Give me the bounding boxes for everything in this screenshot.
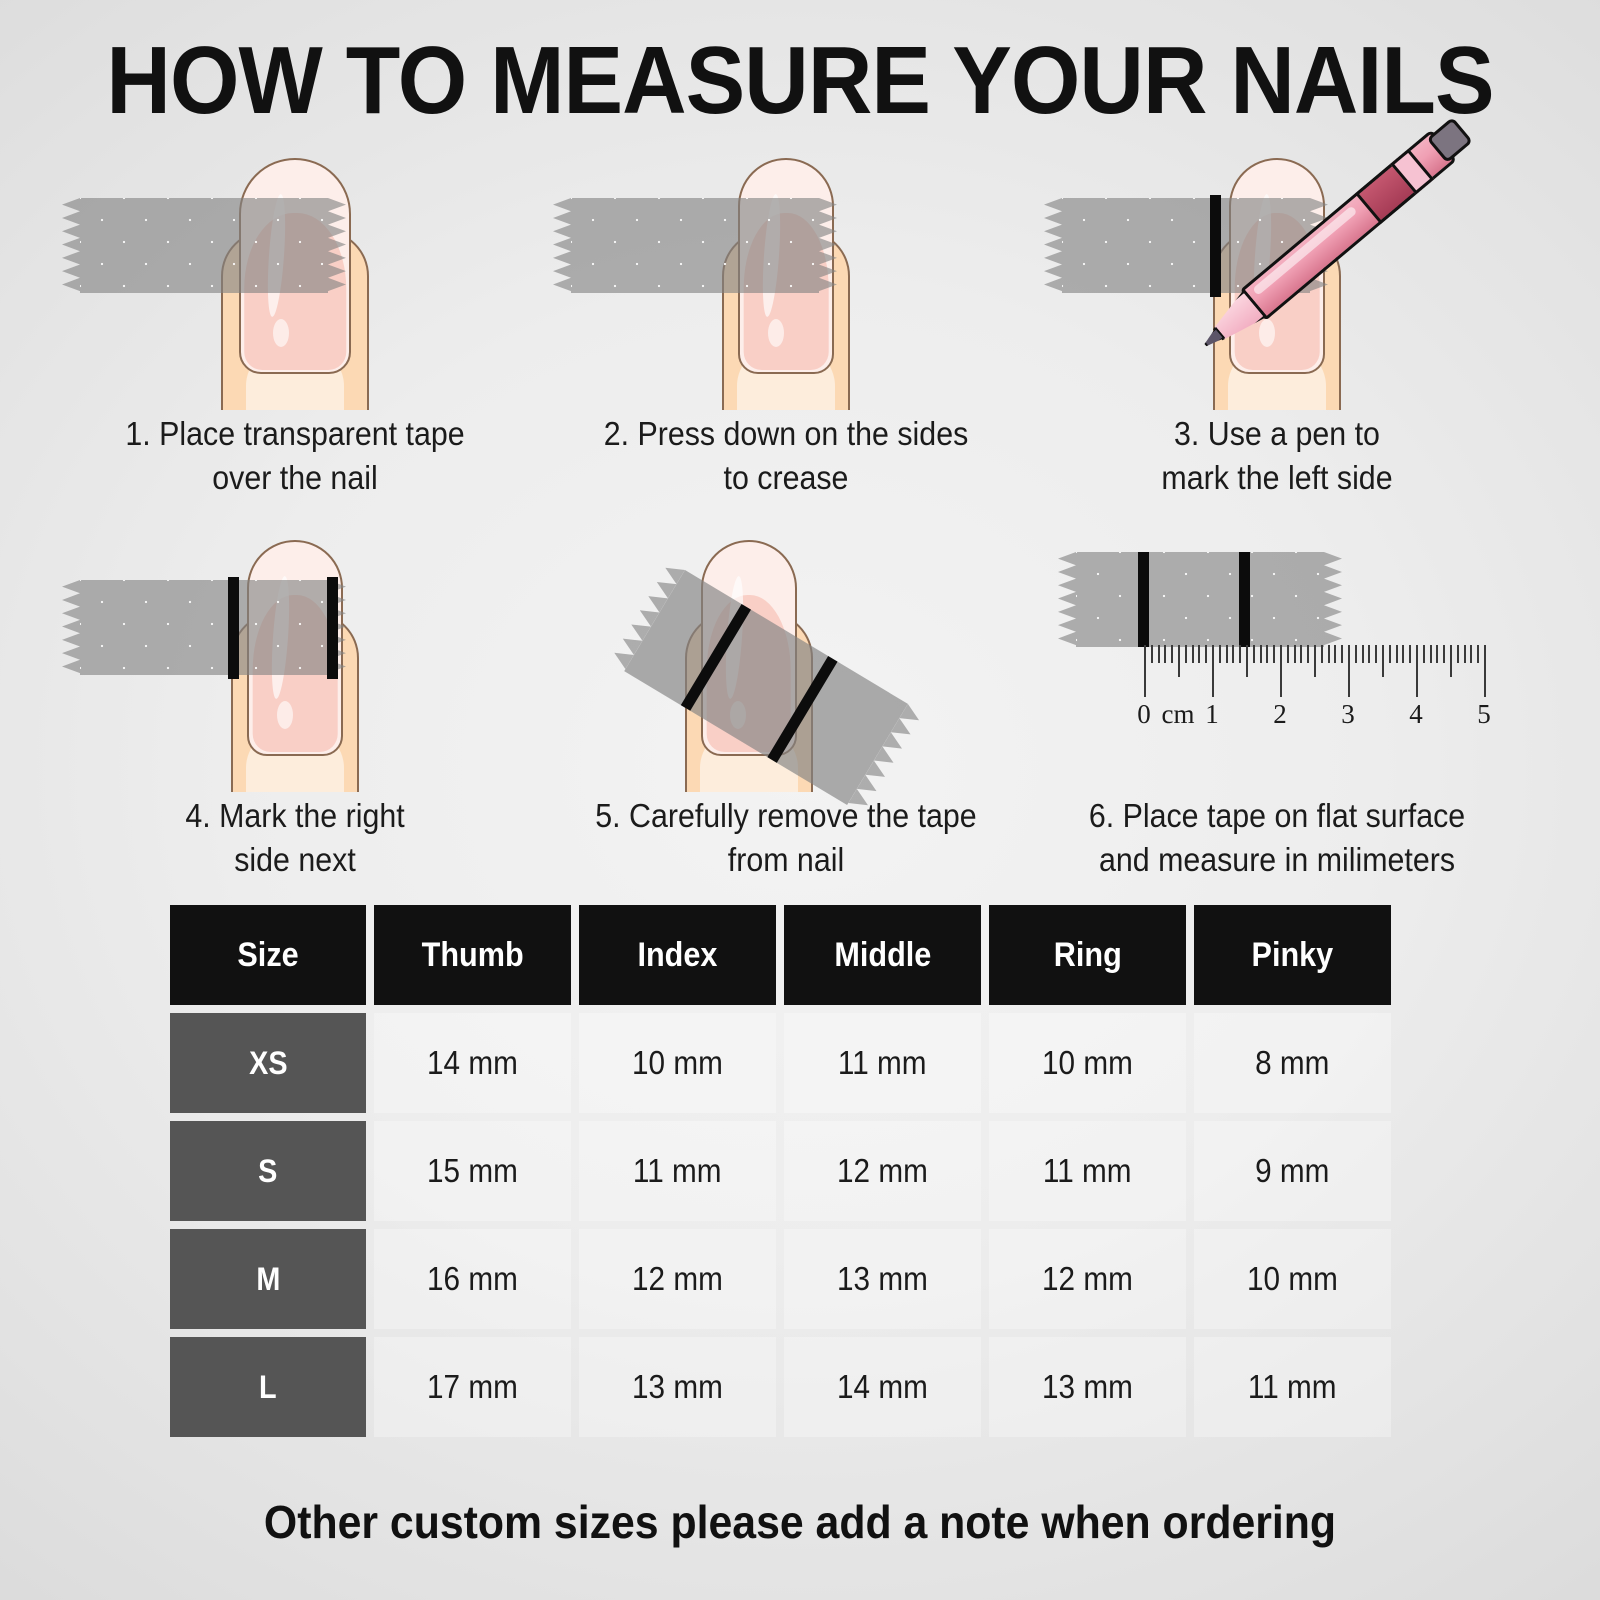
ruler-label-3: 3 [1328,699,1368,730]
table-data-value: 13 mm [632,1368,723,1406]
table-data-value: 10 mm [1042,1044,1133,1082]
table-row: M16 mm12 mm13 mm12 mm10 mm [170,1229,1465,1329]
table-data-value: 12 mm [632,1260,723,1298]
ruler-tick [1171,645,1173,663]
table-data-value: 13 mm [1042,1368,1133,1406]
table-data-cell: 14 mm [374,1013,571,1113]
table-header-thumb: Thumb [374,905,571,1005]
table-data-value: 11 mm [838,1044,927,1082]
step-6-illustration: 012345cm [1044,502,1510,792]
ruler-tick [1300,645,1302,663]
table-size-label: M [256,1261,280,1298]
ruler-tick [1219,645,1221,663]
size-chart-table: SizeThumbIndexMiddleRingPinky XS14 mm10 … [170,905,1465,1445]
table-data-value: 17 mm [427,1368,518,1406]
table-data-value: 15 mm [427,1152,518,1190]
left-edge-mark [228,577,239,679]
ruler-tick [1470,645,1472,663]
table-data-value: 10 mm [1247,1260,1338,1298]
table-data-value: 13 mm [837,1260,928,1298]
table-header-label: Pinky [1252,936,1334,975]
right-edge-mark [327,577,338,679]
table-data-cell: 13 mm [989,1337,1186,1437]
tape-texture [80,580,328,675]
step-2-caption-line1: 2. Press down on the sides [572,412,1001,456]
table-size-cell: L [170,1337,366,1437]
step-1-caption-line1: 1. Place transparent tape [81,412,510,456]
tape-edge-left [1058,552,1076,647]
ruler-tick [1239,645,1241,663]
table-data-value: 12 mm [837,1152,928,1190]
table-data-cell: 8 mm [1194,1013,1391,1113]
ruler-tick [1464,645,1466,663]
table-data-cell: 10 mm [579,1013,776,1113]
nail-shine-small-icon [768,319,784,347]
transparent-tape [80,198,328,293]
table-data-cell: 13 mm [579,1337,776,1437]
step-6: 012345cm 6. Place tape on flat surface a… [1044,502,1510,792]
table-data-cell: 11 mm [1194,1337,1391,1437]
ruler-label-1: 1 [1192,699,1232,730]
table-data-value: 12 mm [1042,1260,1133,1298]
table-data-cell: 12 mm [784,1121,981,1221]
ruler-tick [1416,645,1418,697]
step-2-illustration [553,120,1019,410]
table-size-cell: M [170,1229,366,1329]
table-data-value: 10 mm [632,1044,723,1082]
ruler-tick [1368,645,1370,663]
tape-edge-left [553,198,571,293]
tape-edge-left [62,580,80,675]
table-data-value: 14 mm [837,1368,928,1406]
table-header-row: SizeThumbIndexMiddleRingPinky [170,905,1465,1005]
step-5-caption-line2: from nail [572,838,1001,882]
left-edge-mark [1210,195,1221,297]
table-data-value: 16 mm [427,1260,518,1298]
tape-edge-left [62,198,80,293]
ruler: 012345cm [1138,645,1498,745]
ruler-tick [1144,645,1146,697]
ruler-unit-label: cm [1158,699,1198,730]
step-1-illustration [62,120,528,410]
transparent-tape [571,198,819,293]
table-size-label: S [258,1153,277,1190]
table-data-cell: 9 mm [1194,1121,1391,1221]
ruler-tick [1307,645,1309,663]
table-data-cell: 16 mm [374,1229,571,1329]
step-5: 5. Carefully remove the tape from nail [553,502,1019,792]
ruler-tick [1260,645,1262,663]
table-data-value: 11 mm [1043,1152,1132,1190]
ruler-tick [1443,645,1445,663]
nail-shine-small-icon [1259,319,1275,347]
transparent-tape-flat [1076,552,1324,647]
table-size-label: XS [249,1045,287,1082]
ruler-tick [1212,645,1214,697]
table-size-label: L [259,1369,277,1406]
step-1-caption: 1. Place transparent tape over the nail [81,412,510,500]
ruler-tick [1362,645,1364,663]
ruler-tick [1355,645,1357,663]
table-data-cell: 13 mm [784,1229,981,1329]
ruler-tick [1294,645,1296,663]
ruler-tick [1253,645,1255,663]
table-row: XS14 mm10 mm11 mm10 mm8 mm [170,1013,1465,1113]
ruler-tick [1232,645,1234,663]
table-row: S15 mm11 mm12 mm11 mm9 mm [170,1121,1465,1221]
table-header-label: Middle [834,936,931,975]
table-data-value: 11 mm [633,1152,722,1190]
step-4-caption: 4. Mark the right side next [81,794,510,882]
ruler-tick [1430,645,1432,663]
ruler-tick [1185,645,1187,663]
ruler-label-4: 4 [1396,699,1436,730]
step-4-caption-line2: side next [81,838,510,882]
ruler-tick [1151,645,1153,663]
step-1: 1. Place transparent tape over the nail [62,120,528,410]
ruler-tick [1484,645,1486,697]
table-header-ring: Ring [989,905,1186,1005]
ruler-label-2: 2 [1260,699,1300,730]
ruler-tick [1382,645,1384,677]
ruler-tick [1192,645,1194,663]
table-data-cell: 12 mm [579,1229,776,1329]
table-data-cell: 10 mm [1194,1229,1391,1329]
ruler-tick [1198,645,1200,663]
transparent-tape [80,580,328,675]
tape-texture [1076,552,1324,647]
ruler-tick [1273,645,1275,663]
step-3: 3. Use a pen to mark the left side [1044,120,1510,410]
ruler-tick [1402,645,1404,663]
left-edge-mark [1138,552,1149,647]
ruler-tick [1328,645,1330,663]
ruler-tick [1389,645,1391,663]
right-edge-mark [1239,552,1250,647]
table-size-cell: XS [170,1013,366,1113]
step-3-illustration [1044,120,1510,410]
tape-edge-left [1044,198,1062,293]
step-6-caption-line2: and measure in milimeters [1063,838,1492,882]
step-6-caption-line1: 6. Place tape on flat surface [1063,794,1492,838]
table-header-pinky: Pinky [1194,905,1391,1005]
table-data-cell: 14 mm [784,1337,981,1437]
ruler-tick [1158,645,1160,663]
ruler-tick [1436,645,1438,663]
step-6-caption: 6. Place tape on flat surface and measur… [1063,794,1492,882]
table-header-label: Ring [1053,936,1121,975]
step-4-caption-line1: 4. Mark the right [81,794,510,838]
ruler-tick [1450,645,1452,677]
ruler-tick [1423,645,1425,663]
table-data-value: 11 mm [1248,1368,1337,1406]
ruler-tick [1348,645,1350,697]
ruler-tick [1341,645,1343,663]
ruler-tick [1164,645,1166,663]
step-2: 2. Press down on the sides to crease [553,120,1019,410]
step-4: 4. Mark the right side next [62,502,528,792]
table-size-cell: S [170,1121,366,1221]
table-data-cell: 11 mm [579,1121,776,1221]
table-header-middle: Middle [784,905,981,1005]
step-2-caption-line2: to crease [572,456,1001,500]
table-data-cell: 17 mm [374,1337,571,1437]
table-data-value: 8 mm [1255,1044,1329,1082]
table-row: L17 mm13 mm14 mm13 mm11 mm [170,1337,1465,1437]
step-3-caption-line2: mark the left side [1063,456,1492,500]
ruler-tick [1178,645,1180,677]
ruler-labels: 012345cm [1138,699,1498,739]
table-header-size: Size [170,905,366,1005]
ruler-tick [1280,645,1282,697]
ruler-tick [1205,645,1207,663]
table-data-value: 14 mm [427,1044,518,1082]
step-5-illustration [553,502,1019,792]
tape-edge-right [1324,552,1342,647]
ruler-tick [1226,645,1228,663]
step-5-caption-line1: 5. Carefully remove the tape [572,794,1001,838]
step-5-caption: 5. Carefully remove the tape from nail [572,794,1001,882]
footer-note: Other custom sizes please add a note whe… [56,1495,1544,1549]
ruler-tick [1266,645,1268,663]
ruler-tick [1246,645,1248,677]
ruler-tick [1477,645,1479,663]
ruler-ticks [1138,645,1498,697]
ruler-tick [1287,645,1289,663]
step-3-caption-line1: 3. Use a pen to [1063,412,1492,456]
table-header-index: Index [579,905,776,1005]
table-data-cell: 10 mm [989,1013,1186,1113]
ruler-tick [1321,645,1323,663]
ruler-tick [1457,645,1459,663]
table-data-cell: 12 mm [989,1229,1186,1329]
table-header-label: Size [237,936,298,975]
table-header-label: Index [638,936,718,975]
step-3-caption: 3. Use a pen to mark the left side [1063,412,1492,500]
step-2-caption: 2. Press down on the sides to crease [572,412,1001,500]
tape-texture [571,198,819,293]
ruler-tick [1334,645,1336,663]
nail-shine-small-icon [277,701,293,729]
infographic-page: HOW TO MEASURE YOUR NAILS [0,0,1600,1600]
ruler-tick [1314,645,1316,677]
ruler-tick [1409,645,1411,663]
table-body: XS14 mm10 mm11 mm10 mm8 mmS15 mm11 mm12 … [170,1013,1465,1437]
tape-texture [80,198,328,293]
table-data-value: 9 mm [1255,1152,1329,1190]
table-data-cell: 15 mm [374,1121,571,1221]
ruler-tick [1375,645,1377,663]
ruler-tick [1396,645,1398,663]
step-1-caption-line2: over the nail [81,456,510,500]
ruler-label-5: 5 [1464,699,1504,730]
step-4-illustration [62,502,528,792]
table-data-cell: 11 mm [989,1121,1186,1221]
table-data-cell: 11 mm [784,1013,981,1113]
table-header-label: Thumb [422,936,524,975]
